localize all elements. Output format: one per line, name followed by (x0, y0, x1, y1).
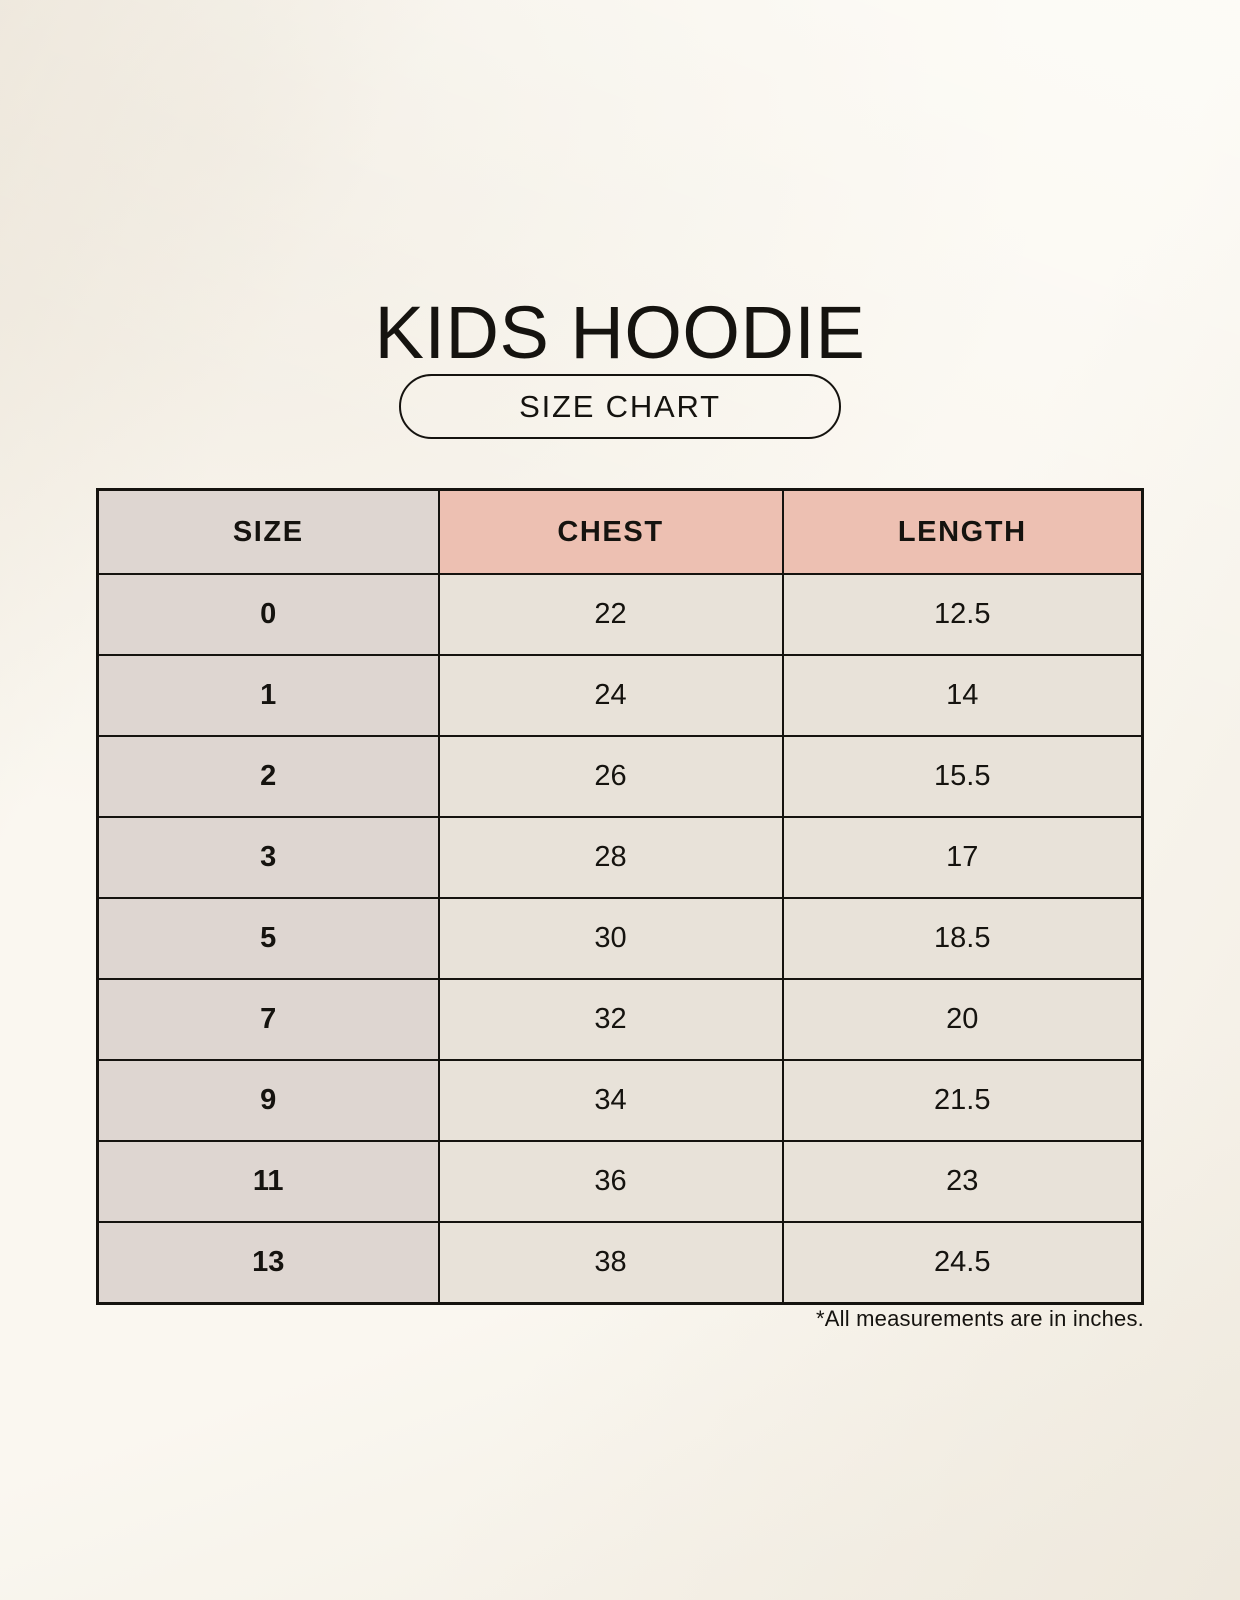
measurement-units-note: *All measurements are in inches. (96, 1306, 1144, 1332)
column-header-length: LENGTH (783, 490, 1143, 575)
table-row: 113623 (98, 1141, 1143, 1222)
table-row: 53018.5 (98, 898, 1143, 979)
table-row: 02212.5 (98, 574, 1143, 655)
cell-chest-value: 22 (439, 574, 783, 655)
cell-length-value: 21.5 (783, 1060, 1143, 1141)
cell-length-value: 12.5 (783, 574, 1143, 655)
cell-size-value: 1 (98, 655, 439, 736)
cell-size-value: 9 (98, 1060, 439, 1141)
cell-length-value: 17 (783, 817, 1143, 898)
size-table-container: SIZE CHEST LENGTH 02212.51241422615.5328… (96, 488, 1144, 1305)
table-row: 32817 (98, 817, 1143, 898)
cell-length-value: 20 (783, 979, 1143, 1060)
size-table-head: SIZE CHEST LENGTH (98, 490, 1143, 575)
size-table: SIZE CHEST LENGTH 02212.51241422615.5328… (96, 488, 1144, 1305)
column-header-chest: CHEST (439, 490, 783, 575)
cell-size-value: 11 (98, 1141, 439, 1222)
cell-chest-value: 32 (439, 979, 783, 1060)
table-header-row: SIZE CHEST LENGTH (98, 490, 1143, 575)
cell-chest-value: 26 (439, 736, 783, 817)
cell-chest-value: 36 (439, 1141, 783, 1222)
table-row: 93421.5 (98, 1060, 1143, 1141)
cell-size-value: 7 (98, 979, 439, 1060)
table-row: 12414 (98, 655, 1143, 736)
cell-chest-value: 34 (439, 1060, 783, 1141)
size-chart-page: KIDS HOODIE SIZE CHART SIZE CHEST LENGTH… (0, 0, 1240, 1600)
page-title: KIDS HOODIE (0, 293, 1240, 373)
size-table-body: 02212.51241422615.53281753018.5732209342… (98, 574, 1143, 1303)
cell-length-value: 24.5 (783, 1222, 1143, 1303)
cell-chest-value: 24 (439, 655, 783, 736)
cell-size-value: 5 (98, 898, 439, 979)
size-chart-badge: SIZE CHART (399, 374, 841, 439)
cell-size-value: 0 (98, 574, 439, 655)
table-row: 73220 (98, 979, 1143, 1060)
cell-length-value: 15.5 (783, 736, 1143, 817)
cell-size-value: 3 (98, 817, 439, 898)
cell-chest-value: 28 (439, 817, 783, 898)
table-row: 22615.5 (98, 736, 1143, 817)
size-chart-badge-label: SIZE CHART (519, 389, 721, 425)
column-header-size: SIZE (98, 490, 439, 575)
cell-size-value: 2 (98, 736, 439, 817)
cell-chest-value: 30 (439, 898, 783, 979)
cell-length-value: 18.5 (783, 898, 1143, 979)
cell-length-value: 14 (783, 655, 1143, 736)
cell-size-value: 13 (98, 1222, 439, 1303)
table-row: 133824.5 (98, 1222, 1143, 1303)
cell-chest-value: 38 (439, 1222, 783, 1303)
cell-length-value: 23 (783, 1141, 1143, 1222)
